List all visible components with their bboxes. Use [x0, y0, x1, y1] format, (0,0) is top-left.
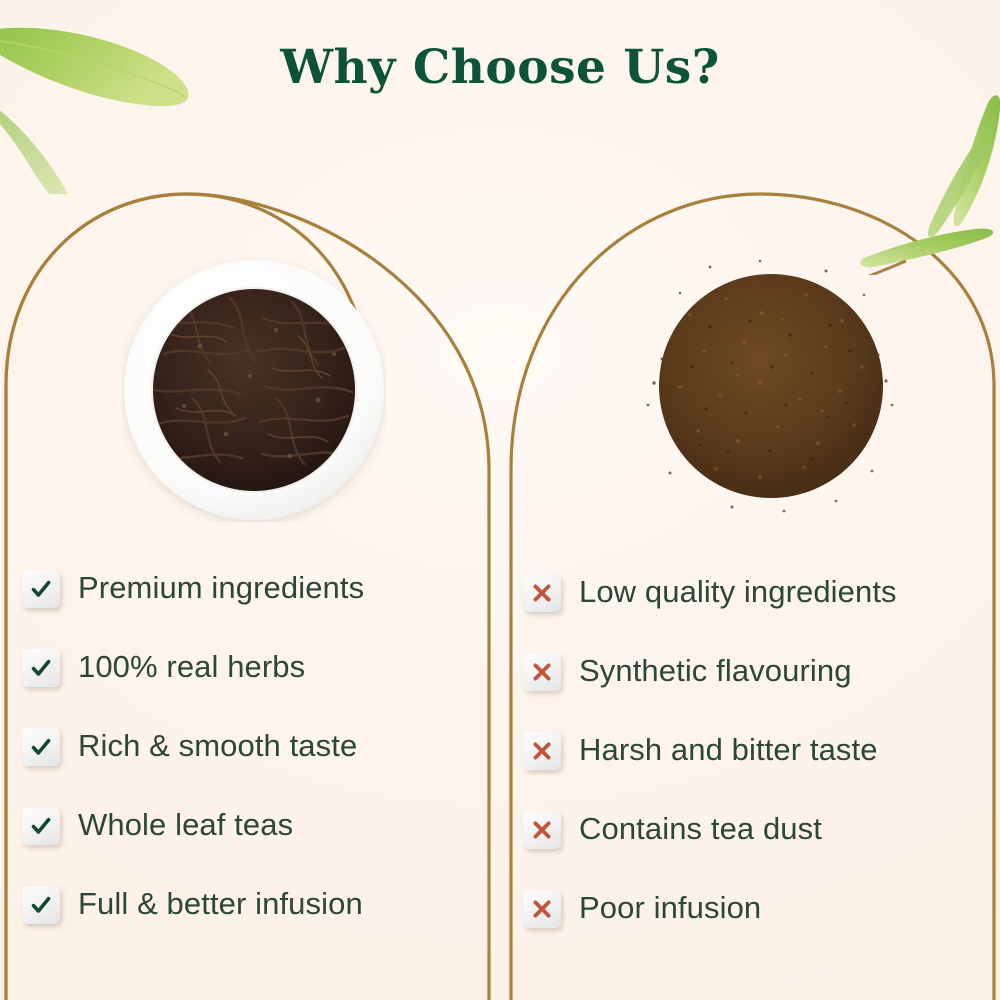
- cross-icon: [523, 890, 561, 928]
- comparison-infographic: Why Choose Us?: [0, 0, 1000, 1000]
- tea-leaf-icon-top-right: [858, 95, 1000, 275]
- list-item-label: Full & better infusion: [78, 887, 363, 921]
- check-icon: [22, 728, 60, 766]
- list-item-label: Rich & smooth taste: [78, 729, 357, 763]
- list-item-label: Whole leaf teas: [78, 808, 293, 842]
- cross-icon: [523, 811, 561, 849]
- tea-dust-image: [640, 255, 902, 517]
- list-item[interactable]: Contains tea dust: [523, 790, 993, 869]
- page-title: Why Choose Us?: [0, 40, 1000, 95]
- list-item-label: Harsh and bitter taste: [579, 733, 878, 767]
- list-item-label: Synthetic flavouring: [579, 654, 852, 688]
- cross-icon: [523, 653, 561, 691]
- list-item[interactable]: Synthetic flavouring: [523, 632, 993, 711]
- check-icon: [22, 570, 60, 608]
- list-item-label: Premium ingredients: [78, 571, 364, 605]
- check-icon: [22, 886, 60, 924]
- cross-icon: [523, 732, 561, 770]
- cross-icon: [523, 574, 561, 612]
- list-item-label: Contains tea dust: [579, 812, 822, 846]
- check-icon: [22, 649, 60, 687]
- list-item-label: 100% real herbs: [78, 650, 305, 684]
- list-item[interactable]: Premium ingredients: [22, 549, 492, 628]
- list-item-label: Poor infusion: [579, 891, 761, 925]
- whole-leaf-tea-image: [122, 258, 386, 522]
- list-item[interactable]: Full & better infusion: [22, 865, 492, 944]
- benefits-column-left: Premium ingredients 100% real herbs Rich…: [22, 549, 492, 944]
- drawbacks-column-right: Low quality ingredients Synthetic flavou…: [523, 553, 993, 948]
- list-item-label: Low quality ingredients: [579, 575, 897, 609]
- list-item[interactable]: 100% real herbs: [22, 628, 492, 707]
- tea-leaf-icon-top-left: [0, 0, 212, 194]
- list-item[interactable]: Low quality ingredients: [523, 553, 993, 632]
- list-item[interactable]: Rich & smooth taste: [22, 707, 492, 786]
- check-icon: [22, 807, 60, 845]
- list-item[interactable]: Whole leaf teas: [22, 786, 492, 865]
- list-item[interactable]: Harsh and bitter taste: [523, 711, 993, 790]
- list-item[interactable]: Poor infusion: [523, 869, 993, 948]
